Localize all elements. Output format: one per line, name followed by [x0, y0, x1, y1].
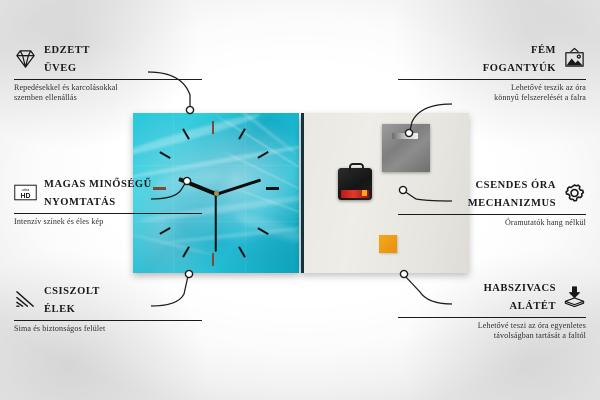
callout-header: EDZETT ÜVEG: [14, 40, 202, 76]
callout-header: HABSZIVACS ALÁTÉT: [398, 278, 586, 314]
polished-edges-icon: [14, 288, 37, 311]
callout-foam-spacer[interactable]: HABSZIVACS ALÁTÉT Lehetővé teszi az óra …: [398, 278, 586, 341]
callout-rule: [14, 320, 202, 321]
callout-description: Repedésekkel és karcolásokkal szemben el…: [14, 83, 202, 103]
callout-description: Lehetővé teszi az óra egyenletes távolsá…: [398, 321, 586, 341]
callout-title: CSENDES ÓRA MECHANIZMUS: [468, 175, 556, 211]
callout-rule: [398, 79, 586, 80]
gear-icon: [563, 182, 586, 205]
clock-second-hand: [215, 194, 217, 252]
mechanism-shaft: [349, 163, 364, 172]
svg-text:ultra: ultra: [22, 186, 31, 191]
callout-title: HABSZIVACS ALÁTÉT: [484, 278, 556, 314]
callout-description: Intenzív színek és éles kép: [14, 217, 202, 227]
callout-title: EDZETT ÜVEG: [44, 40, 90, 76]
callout-description: Lehetővé teszik az óra könnyű felszerelé…: [398, 83, 586, 103]
hanger-slot: [392, 133, 418, 139]
callout-description: Óramutatók hang nélkül: [398, 218, 586, 228]
callout-header: CSISZOLT ÉLEK: [14, 281, 202, 317]
diamond-icon: [14, 47, 37, 70]
callout-header: ultra HD MAGAS MINŐSÉGŰ NYOMTATÁS: [14, 174, 202, 210]
svg-text:HD: HD: [21, 192, 31, 199]
clock-center-cap: [214, 191, 219, 196]
callout-silent-mechanism[interactable]: CSENDES ÓRA MECHANIZMUS Óramutatók hang …: [398, 175, 586, 228]
callout-polished-edges[interactable]: CSISZOLT ÉLEK Sima és biztonságos felüle…: [14, 281, 202, 334]
battery-plus-terminal: [362, 190, 367, 196]
ultra-hd-icon: ultra HD: [14, 181, 37, 204]
clock-tick: [212, 121, 214, 134]
callout-title: MAGAS MINŐSÉGŰ NYOMTATÁS: [44, 174, 152, 210]
callout-metal-hangers[interactable]: FÉM FOGANTYÚK Lehetővé teszik az óra kön…: [398, 40, 586, 103]
picture-hanger-icon: [563, 47, 586, 70]
callout-rule: [14, 79, 202, 80]
callout-rule: [398, 317, 586, 318]
callout-hd-print[interactable]: ultra HD MAGAS MINŐSÉGŰ NYOMTATÁS Intenz…: [14, 174, 202, 227]
clock-tick: [266, 187, 279, 190]
callout-title: FÉM FOGANTYÚK: [483, 40, 556, 76]
callout-rule: [14, 213, 202, 214]
quartz-mechanism: [338, 168, 372, 200]
callout-title: CSISZOLT ÉLEK: [44, 281, 100, 317]
callout-header: FÉM FOGANTYÚK: [398, 40, 586, 76]
clock-tick: [159, 151, 170, 159]
clock-minute-hand: [215, 178, 261, 196]
metal-hanger-plate: [382, 124, 430, 172]
callout-rule: [398, 214, 586, 215]
foam-pad: [379, 235, 397, 253]
clock-tick: [212, 253, 214, 266]
battery: [341, 190, 369, 198]
clock-tick: [159, 227, 170, 235]
callout-header: CSENDES ÓRA MECHANIZMUS: [398, 175, 586, 211]
foam-pad-icon: [563, 285, 586, 308]
infographic-canvas: EDZETT ÜVEG Repedésekkel és karcolásokka…: [0, 0, 600, 400]
callout-description: Sima és biztonságos felület: [14, 324, 202, 334]
callout-tempered-glass[interactable]: EDZETT ÜVEG Repedésekkel és karcolásokka…: [14, 40, 202, 103]
